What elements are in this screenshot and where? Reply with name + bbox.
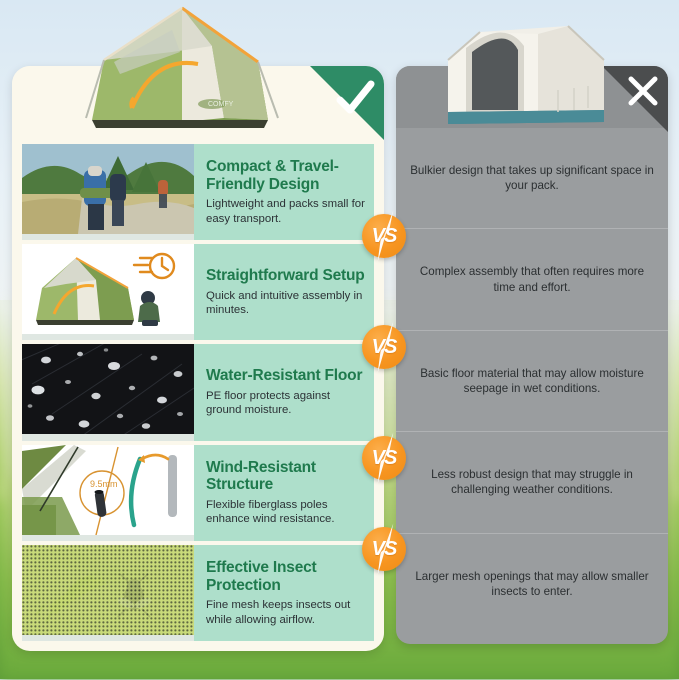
water-beading-floor-image xyxy=(22,344,194,440)
comparison-infographic: COMFY xyxy=(0,0,679,679)
disadvantage-row[interactable]: Bulkier design that takes up significant… xyxy=(396,128,668,228)
bad-hero-tent-image xyxy=(418,4,628,132)
advantage-title: Effective Insect Protection xyxy=(206,559,366,594)
hikers-trail-image xyxy=(22,144,194,240)
fiberglass-pole-diagram-image: 9.5mm xyxy=(22,445,194,541)
disadvantage-row[interactable]: Complex assembly that often requires mor… xyxy=(396,228,668,329)
advantage-text: Effective Insect Protection Fine mesh ke… xyxy=(194,545,374,641)
advantage-text: Wind-Resistant Structure Flexible fiberg… xyxy=(194,445,374,541)
advantage-subtitle: Flexible fiberglass poles enhance wind r… xyxy=(206,498,366,527)
disadvantage-text: Bulkier design that takes up significant… xyxy=(410,163,654,194)
vs-label: VS xyxy=(362,325,406,369)
good-hero-tent-image: COMFY xyxy=(62,0,302,140)
vs-label: VS xyxy=(362,436,406,480)
advantage-row[interactable]: Effective Insect Protection Fine mesh ke… xyxy=(22,545,374,641)
vs-badge: VS xyxy=(362,325,406,369)
advantage-title: Wind-Resistant Structure xyxy=(206,459,366,494)
vs-label: VS xyxy=(362,527,406,571)
advantage-row[interactable]: 9.5mm Wind-Resistant Structure Flexible … xyxy=(22,445,374,541)
tent-setup-image xyxy=(22,244,194,340)
advantage-title: Straightforward Setup xyxy=(206,267,366,285)
disadvantage-text: Less robust design that may struggle in … xyxy=(410,467,654,498)
advantage-subtitle: Quick and intuitive assembly in minutes. xyxy=(206,289,366,318)
advantage-row[interactable]: Compact & Travel-Friendly Design Lightwe… xyxy=(22,144,374,240)
advantage-text: Straightforward Setup Quick and intuitiv… xyxy=(194,244,374,340)
vs-badge: VS xyxy=(362,436,406,480)
advantage-text: Compact & Travel-Friendly Design Lightwe… xyxy=(194,144,374,240)
vs-badge: VS xyxy=(362,214,406,258)
vs-badge: VS xyxy=(362,527,406,571)
disadvantage-row[interactable]: Larger mesh openings that may allow smal… xyxy=(396,533,668,634)
disadvantage-row[interactable]: Less robust design that may struggle in … xyxy=(396,431,668,532)
disadvantage-row[interactable]: Basic floor material that may allow mois… xyxy=(396,330,668,431)
advantage-row[interactable]: Straightforward Setup Quick and intuitiv… xyxy=(22,244,374,340)
svg-text:COMFY: COMFY xyxy=(208,101,234,108)
advantage-rows: Compact & Travel-Friendly Design Lightwe… xyxy=(22,144,374,641)
advantage-text: Water-Resistant Floor PE floor protects … xyxy=(194,344,374,440)
advantage-title: Water-Resistant Floor xyxy=(206,367,366,385)
disadvantage-text: Larger mesh openings that may allow smal… xyxy=(410,569,654,600)
disadvantage-text: Complex assembly that often requires mor… xyxy=(410,264,654,295)
x-icon xyxy=(626,74,660,108)
advantage-row[interactable]: Water-Resistant Floor PE floor protects … xyxy=(22,344,374,440)
mesh-insect-image xyxy=(22,545,194,641)
vs-label: VS xyxy=(362,214,406,258)
disadvantage-rows: Bulkier design that takes up significant… xyxy=(396,128,668,634)
advantage-subtitle: PE floor protects against ground moistur… xyxy=(206,389,366,418)
disadvantages-panel: Bulkier design that takes up significant… xyxy=(396,66,668,644)
pole-diameter-callout: 9.5mm xyxy=(90,479,118,489)
check-icon xyxy=(335,80,375,118)
advantage-title: Compact & Travel-Friendly Design xyxy=(206,158,366,193)
disadvantage-text: Basic floor material that may allow mois… xyxy=(410,366,654,397)
advantage-subtitle: Lightweight and packs small for easy tra… xyxy=(206,197,366,226)
advantage-subtitle: Fine mesh keeps insects out while allowi… xyxy=(206,598,366,627)
advantages-panel: Compact & Travel-Friendly Design Lightwe… xyxy=(12,66,384,651)
